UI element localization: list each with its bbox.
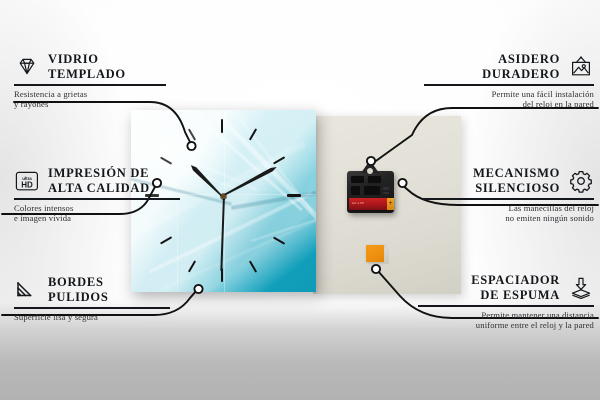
feature-desc-line2: e imagen vívida bbox=[14, 213, 200, 224]
battery-label: AA 1.5V bbox=[352, 201, 364, 205]
clock-center-hub bbox=[221, 194, 226, 199]
infographic-canvas: AA 1.5V + bbox=[0, 0, 600, 400]
feature-rule bbox=[14, 84, 166, 86]
feature-title-line1: MECANISMO bbox=[473, 166, 560, 181]
clock-tick-3 bbox=[287, 194, 301, 197]
feature-title-line1: VIDRIO bbox=[48, 52, 126, 67]
polished-edges-icon bbox=[14, 278, 40, 302]
feature-espaciador-de-espuma: ESPACIADOR DE ESPUMA Permite mantener un… bbox=[404, 273, 594, 331]
foam-spacer-icon bbox=[568, 276, 594, 300]
feature-impresion-alta-calidad: ultra HD IMPRESIÓN DE ALTA CALIDAD Color… bbox=[14, 166, 200, 224]
feature-rule bbox=[14, 307, 170, 309]
feature-title-line1: ASIDERO bbox=[482, 52, 560, 67]
feature-bordes-pulidos: BORDES PULIDOS Superficie lisa y segura bbox=[14, 275, 190, 322]
feature-title-line2: DE ESPUMA bbox=[471, 288, 560, 303]
feature-desc-line1: Superficie lisa y segura bbox=[14, 312, 190, 323]
foam-spacer bbox=[366, 245, 384, 262]
feature-title-line2: TEMPLADO bbox=[48, 67, 126, 82]
battery: AA 1.5V + bbox=[349, 198, 394, 210]
feature-desc-line2: uniforme entre el reloj y la pared bbox=[404, 320, 594, 331]
feature-mecanismo-silencioso: MECANISMO SILENCIOSO Las manecillas del … bbox=[408, 166, 594, 224]
feature-desc-line2: y rayones bbox=[14, 99, 186, 110]
feature-title-line1: BORDES bbox=[48, 275, 108, 290]
feature-desc-line1: Permite mantener una distancia bbox=[404, 310, 594, 321]
feature-desc-line2: no emiten ningún sonido bbox=[408, 213, 594, 224]
feature-desc-line1: Las manecillas del reloj bbox=[408, 203, 594, 214]
feature-rule bbox=[14, 198, 180, 200]
feature-asidero-duradero: ASIDERO DURADERO Permite una fácil insta… bbox=[410, 52, 594, 110]
feature-desc-line1: Resistencia a grietas bbox=[14, 89, 186, 100]
diamond-icon bbox=[14, 55, 40, 79]
feature-vidrio-templado: VIDRIO TEMPLADO Resistencia a grietas y … bbox=[14, 52, 186, 110]
feature-title-line1: ESPACIADOR bbox=[471, 273, 560, 288]
feature-title-line2: PULIDOS bbox=[48, 290, 108, 305]
foam-spacer-shadow bbox=[384, 247, 389, 264]
feature-desc-line2: del reloj en la pared bbox=[410, 99, 594, 110]
hanging-frame-icon bbox=[568, 55, 594, 79]
feature-title-line2: ALTA CALIDAD bbox=[48, 181, 150, 196]
feature-title-line2: SILENCIOSO bbox=[473, 181, 560, 196]
feature-title-line2: DURADERO bbox=[482, 67, 560, 82]
svg-text:HD: HD bbox=[21, 180, 33, 189]
gear-icon bbox=[568, 169, 594, 193]
feature-rule bbox=[418, 305, 594, 307]
mechanism-hanger-hole bbox=[367, 168, 373, 174]
feature-rule bbox=[424, 84, 594, 86]
feature-title-line1: IMPRESIÓN DE bbox=[48, 166, 150, 181]
battery-plus-sign: + bbox=[389, 200, 393, 208]
feature-rule bbox=[422, 198, 594, 200]
ultra-hd-icon: ultra HD bbox=[14, 169, 40, 193]
feature-desc-line1: Permite una fácil instalación bbox=[410, 89, 594, 100]
feature-desc-line1: Colores intensos bbox=[14, 203, 200, 214]
